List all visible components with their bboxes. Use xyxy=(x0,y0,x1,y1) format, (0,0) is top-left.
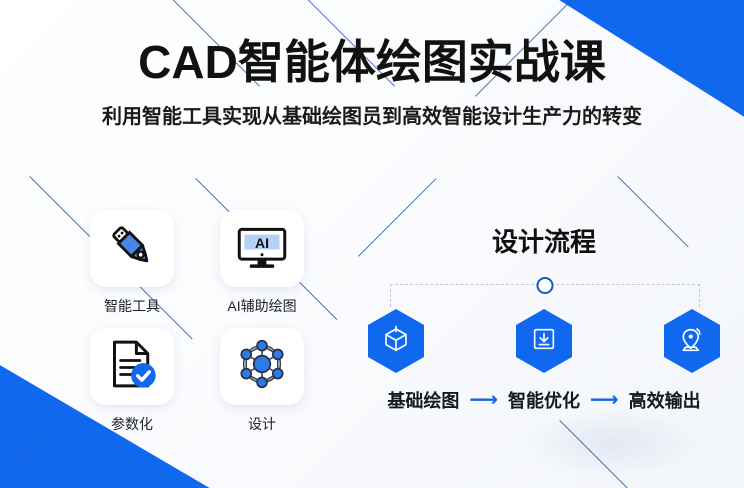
feature-card-tile xyxy=(90,210,174,287)
flow-bracket-dot xyxy=(537,277,554,294)
pen-icon xyxy=(104,218,160,279)
design-flow-section: 设计流程 xyxy=(360,222,728,413)
flow-step-labels: 基础绘图 ⟶ 智能优化 ⟶ 高效输出 xyxy=(360,387,728,413)
flow-step-label-smart-optimize: 智能优化 xyxy=(508,387,580,413)
feature-card-smart-tools[interactable]: 智能工具 xyxy=(90,210,174,316)
network-nodes-icon xyxy=(234,336,290,397)
flow-step-hexagon-smart-optimize[interactable] xyxy=(516,309,572,373)
feature-card-label: AI辅助绘图 xyxy=(227,296,296,316)
flow-step-label-basic-drawing: 基础绘图 xyxy=(387,387,459,413)
diagonal-line-4 xyxy=(585,0,628,39)
poster-header: CAD智能体绘图实战课 利用智能工具实现从基础绘图员到高效智能设计生产力的转变 xyxy=(0,38,744,129)
diagonal-line-10 xyxy=(6,428,49,471)
cube-house-icon xyxy=(381,324,411,359)
location-signal-icon xyxy=(677,324,707,359)
feature-card-label: 参数化 xyxy=(111,414,153,434)
feature-card-tile xyxy=(90,328,174,405)
document-check-icon xyxy=(104,336,160,397)
feature-card-design[interactable]: 设计 xyxy=(220,328,304,434)
feature-card-tile: AI xyxy=(220,210,304,287)
flow-step-hexagon-basic-drawing[interactable] xyxy=(368,309,424,373)
poster-canvas: CAD智能体绘图实战课 利用智能工具实现从基础绘图员到高效智能设计生产力的转变 xyxy=(0,0,744,488)
flow-arrow-2: ⟶ xyxy=(590,390,619,410)
feature-card-label: 智能工具 xyxy=(104,296,160,316)
monitor-ai-icon: AI xyxy=(234,218,290,279)
flow-step-label-efficient-output: 高效输出 xyxy=(629,387,701,413)
feature-card-parametric[interactable]: 参数化 xyxy=(90,328,174,434)
svg-text:AI: AI xyxy=(255,235,269,251)
diagonal-line-8 xyxy=(559,420,645,488)
page-title: CAD智能体绘图实战课 xyxy=(0,38,744,86)
flow-step-icons xyxy=(360,309,728,373)
download-box-icon xyxy=(530,325,558,358)
flow-arrow-1: ⟶ xyxy=(469,390,498,410)
feature-card-label: 设计 xyxy=(248,414,276,434)
page-subtitle: 利用智能工具实现从基础绘图员到高效智能设计生产力的转变 xyxy=(0,100,744,129)
feature-card-grid: 智能工具 AI AI辅助绘图 xyxy=(90,210,304,434)
feature-card-ai-drawing[interactable]: AI AI辅助绘图 xyxy=(220,210,304,316)
flow-step-hexagon-efficient-output[interactable] xyxy=(664,309,720,373)
flow-bracket xyxy=(390,277,700,307)
flow-title: 设计流程 xyxy=(360,222,728,259)
bottom-right-glow xyxy=(524,408,704,478)
feature-card-tile xyxy=(220,328,304,405)
